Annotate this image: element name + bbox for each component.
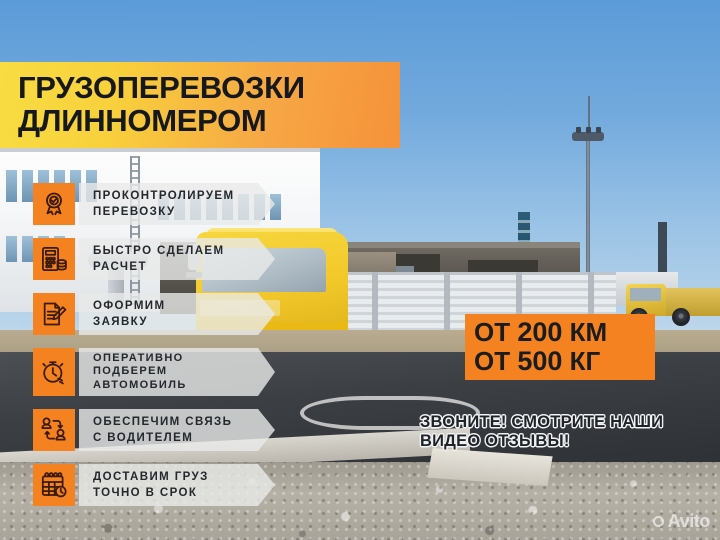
feature-text-line-2: РАСЧЕТ [93, 259, 245, 275]
second-truck-window [630, 288, 661, 301]
feature-text-line-1: ОПЕРАТИВНО [93, 352, 245, 365]
badge-unit-weight: КГ [562, 346, 600, 376]
feature-label: ОПЕРАТИВНО ПОДБЕРЕМ АВТОМОБИЛЬ [79, 348, 275, 396]
badge-unit-distance: КМ [562, 317, 607, 347]
feature-label: ДОСТАВИМ ГРУЗ ТОЧНО В СРОК [79, 464, 275, 506]
feature-text-line-2: С ВОДИТЕЛЕМ [93, 430, 245, 446]
antenna-platform [572, 132, 604, 141]
second-truck-wheel [672, 308, 690, 326]
mast-lamp-icon [596, 127, 601, 133]
antenna-spike [588, 96, 590, 130]
feature-label: ОФОРМИМ ЗАЯВКУ [79, 293, 275, 335]
stopwatch-hand-icon [33, 348, 75, 396]
feature-text-line-1: БЫСТРО СДЕЛАЕМ [93, 243, 245, 259]
badge-value-weight: 500 [517, 346, 562, 376]
second-truck-body [662, 288, 720, 316]
badge-line-distance: ОТ 200 КМ [474, 318, 655, 347]
feature-item: ОБЕСПЕЧИМ СВЯЗЬ С ВОДИТЕЛЕМ [33, 409, 275, 451]
headline-line-1: ГРУЗОПЕРЕВОЗКИ [18, 72, 400, 105]
badge-value-distance: 200 [517, 317, 562, 347]
award-ribbon-icon [33, 183, 75, 225]
cta-line-1: ЗВОНИТЕ! СМОТРИТЕ НАШИ [420, 413, 710, 432]
trailer-post [444, 272, 450, 338]
document-pen-icon [33, 293, 75, 335]
mast-lamp-icon [586, 127, 591, 133]
feature-text-line-1: ПРОКОНТРОЛИРУЕМ [93, 188, 245, 204]
feature-text-line-2: ТОЧНО В СРОК [93, 485, 245, 501]
badge-line-weight: ОТ 500 КГ [474, 347, 655, 376]
feature-list: ПРОКОНТРОЛИРУЕМ ПЕРЕВОЗКУ БЫСТРО СДЕЛАЕ [33, 183, 275, 519]
mast-lamp-icon [576, 127, 581, 133]
two-people-connection-icon [33, 409, 75, 451]
advertisement-banner: ГРУЗОПЕРЕВОЗКИ ДЛИННОМЕРОМ ПРОКОНТРОЛИРУ… [0, 0, 720, 540]
feature-item: ОФОРМИМ ЗАЯВКУ [33, 293, 275, 335]
feature-text-line-3: АВТОМОБИЛЬ [93, 379, 245, 392]
feature-text-line-2: ЗАЯВКУ [93, 314, 245, 330]
feature-item: БЫСТРО СДЕЛАЕМ РАСЧЕТ [33, 238, 275, 280]
headline-line-2: ДЛИННОМЕРОМ [18, 105, 400, 138]
feature-item: ОПЕРАТИВНО ПОДБЕРЕМ АВТОМОБИЛЬ [33, 348, 275, 396]
avito-logo-icon [653, 516, 664, 527]
feature-text-line-1: ОБЕСПЕЧИМ СВЯЗЬ [93, 414, 245, 430]
headline-banner: ГРУЗОПЕРЕВОЗКИ ДЛИННОМЕРОМ [0, 62, 400, 148]
avito-watermark-text: Avito [668, 511, 710, 532]
feature-item: ДОСТАВИМ ГРУЗ ТОЧНО В СРОК [33, 464, 275, 506]
feature-label: ПРОКОНТРОЛИРУЕМ ПЕРЕВОЗКУ [79, 183, 275, 225]
feature-label: ОБЕСПЕЧИМ СВЯЗЬ С ВОДИТЕЛЕМ [79, 409, 275, 451]
badge-prefix: ОТ [474, 317, 517, 347]
minimum-order-badge: ОТ 200 КМ ОТ 500 КГ [465, 314, 655, 380]
cta-line-2: ВИДЕО ОТЗЫВЫ! [420, 432, 710, 451]
feature-text-line-1: ДОСТАВИМ ГРУЗ [93, 469, 245, 485]
trailer-post [372, 272, 378, 338]
feature-text-line-2: ПОДБЕРЕМ [93, 365, 245, 378]
call-to-action: ЗВОНИТЕ! СМОТРИТЕ НАШИ ВИДЕО ОТЗЫВЫ! [420, 413, 710, 452]
feature-text-line-1: ОФОРМИМ [93, 298, 245, 314]
avito-watermark: Avito [653, 511, 710, 532]
feature-label: БЫСТРО СДЕЛАЕМ РАСЧЕТ [79, 238, 275, 280]
feature-text-line-2: ПЕРЕВОЗКУ [93, 204, 245, 220]
badge-prefix: ОТ [474, 346, 517, 376]
calculator-coins-icon [33, 238, 75, 280]
feature-item: ПРОКОНТРОЛИРУЕМ ПЕРЕВОЗКУ [33, 183, 275, 225]
calendar-clock-icon [33, 464, 75, 506]
